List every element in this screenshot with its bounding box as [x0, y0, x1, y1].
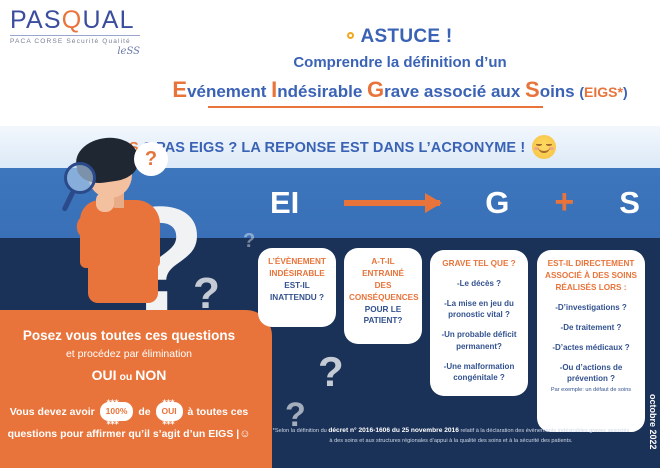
- box-3-head: GRAVE TEL QUE ?: [435, 258, 523, 270]
- box-grave-tel-que: GRAVE TEL QUE ? -Le décès ? -La mise en …: [430, 250, 528, 396]
- instruction-text-b: de: [135, 406, 153, 418]
- instruction-line-1: Posez vous toutes ces questions: [0, 328, 272, 343]
- magnifier-glass-icon: [64, 162, 96, 194]
- bullet-dot-icon: [347, 32, 354, 39]
- list-item: -D’actes médicaux ?: [542, 342, 640, 353]
- sparkle-icon: ⁎⁎⁎: [163, 393, 175, 409]
- acronym-letter-s: S: [525, 77, 540, 102]
- instruction-line-2: et procédez par élimination: [0, 348, 272, 360]
- list-item: -Ou d’actions de prévention ?: [542, 362, 640, 384]
- instruction-line-5: questions pour affirmer qu’il s’agit d’u…: [8, 428, 240, 440]
- box-3-list: -Le décès ? -La mise en jeu du pronostic…: [435, 278, 523, 383]
- logo-text-q: Q: [62, 6, 83, 34]
- instruction-text-a: Vous devez avoir: [10, 406, 98, 418]
- formula-s: S: [619, 185, 640, 221]
- badge-oui: ⁎⁎⁎OUI⁎⁎⁎: [156, 402, 183, 421]
- publication-date: octobre 2022: [648, 394, 658, 450]
- pasqual-logo: PASQUAL PACA CORSE Sécurité Qualité leSS: [10, 8, 145, 57]
- logo-script-mark: leSS: [10, 46, 140, 57]
- answer-ou: ou: [117, 371, 136, 383]
- astuce-heading: ASTUCE !: [150, 26, 650, 48]
- right-arrow-icon: [344, 200, 440, 206]
- acronym-word-indesirable: ndésirable: [277, 82, 367, 101]
- acronym-letter-g: G: [367, 77, 384, 102]
- answer-oui: OUI: [92, 367, 117, 383]
- formula-g: G: [485, 185, 509, 221]
- sparkle-icon: ⁎⁎⁎: [107, 393, 119, 409]
- acronym-word-soins: oins: [540, 82, 580, 101]
- logo-divider: [10, 35, 140, 36]
- instruction-text-c: à toutes ces: [185, 406, 249, 418]
- box-associe-aux-soins: EST-IL DIRECTEMENT ASSOCIÉ À DES SOINS R…: [537, 250, 645, 432]
- sparkle-icon: ⁎⁎⁎: [163, 414, 175, 430]
- header-area: PASQUAL PACA CORSE Sécurité Qualité leSS…: [0, 0, 660, 126]
- acronym-word-grave: rave associé aux: [384, 82, 525, 101]
- logo-subtitle: PACA CORSE Sécurité Qualité: [10, 38, 145, 45]
- footnote-decree: décret n° 2016-1606 du 25 novembre 2016: [328, 427, 459, 434]
- thought-bubble-icon: ?: [134, 142, 168, 176]
- smiley-mouth: [538, 146, 550, 153]
- acronym-word-evenement: vénement: [187, 82, 271, 101]
- box-2-head: A-T-IL ENTRAINÉ DES CONSÉQUENCES: [349, 256, 417, 304]
- list-item: -Une malformation congénitale ?: [435, 361, 523, 383]
- astuce-label: ASTUCE !: [360, 26, 452, 47]
- list-item: -Un probable déficit permanent?: [435, 329, 523, 351]
- list-item: -D’investigations ?: [542, 302, 640, 313]
- acronym-formula: EI G + S: [270, 183, 640, 222]
- box-1-body: EST-IL INATTENDU ?: [263, 280, 331, 304]
- headline-acronym: Evénement Indésirable Grave associé aux …: [150, 77, 650, 103]
- sparkle-icon: ⁎⁎⁎: [107, 414, 119, 430]
- instruction-line-3: OUI ou NON: [0, 367, 272, 383]
- smiley-blush-right: [549, 147, 554, 150]
- person-hand: [96, 192, 114, 212]
- poster-body: EIGS ? PAS EIGS ? LA REPONSE EST DANS L’…: [0, 126, 660, 468]
- decorative-question-mark: ?: [318, 351, 344, 393]
- acronym-letter-e: E: [172, 77, 187, 102]
- box-2-body: POUR LE PATIENT?: [349, 304, 417, 328]
- badge-100-percent: ⁎⁎⁎100%⁎⁎⁎: [100, 402, 134, 421]
- smiley-glyph-icon: ☺: [239, 428, 250, 440]
- smiley-face-icon: [532, 135, 556, 159]
- box-1-head: L’ÉVÈNEMENT INDÉSIRABLE: [263, 256, 331, 280]
- box-4-note: Par exemple: un défaut de soins: [542, 387, 640, 395]
- magnifier-handle-icon: [61, 190, 75, 212]
- logo-text-ual: UAL: [82, 6, 134, 34]
- headline-subtitle: Comprendre la définition d’un: [150, 54, 650, 71]
- answer-non: NON: [135, 367, 166, 383]
- box-4-list: -D’investigations ? -De traitement ? -D’…: [542, 302, 640, 385]
- instruction-line-4: Vous devez avoir ⁎⁎⁎100%⁎⁎⁎ de ⁎⁎⁎OUI⁎⁎⁎…: [0, 402, 272, 445]
- list-item: -La mise en jeu du pronostic vital ?: [435, 298, 523, 320]
- box-evenement-indesirable: L’ÉVÈNEMENT INDÉSIRABLE EST-IL INATTENDU…: [258, 248, 336, 327]
- list-item: -De traitement ?: [542, 322, 640, 333]
- footnote-part-1: *Selon la définition du: [273, 428, 329, 434]
- list-item: -Le décès ?: [435, 278, 523, 289]
- instruction-panel: Posez vous toutes ces questions et procé…: [0, 310, 272, 468]
- formula-plus: +: [554, 183, 574, 222]
- box-consequences: A-T-IL ENTRAINÉ DES CONSÉQUENCES POUR LE…: [344, 248, 422, 344]
- decorative-question-mark: ?: [243, 231, 255, 251]
- title-underline: [208, 106, 543, 108]
- logo-text-pas: PAS: [10, 6, 62, 34]
- headline-block: ASTUCE ! Comprendre la définition d’un E…: [150, 26, 650, 108]
- logo-wordmark: PASQUAL: [10, 8, 145, 33]
- acronym-abbrev: EIGS*: [584, 84, 623, 100]
- footnote: *Selon la définition du décret n° 2016-1…: [272, 426, 630, 445]
- box-4-head: EST-IL DIRECTEMENT ASSOCIÉ À DES SOINS R…: [542, 258, 640, 294]
- acronym-paren-close: ): [623, 84, 628, 100]
